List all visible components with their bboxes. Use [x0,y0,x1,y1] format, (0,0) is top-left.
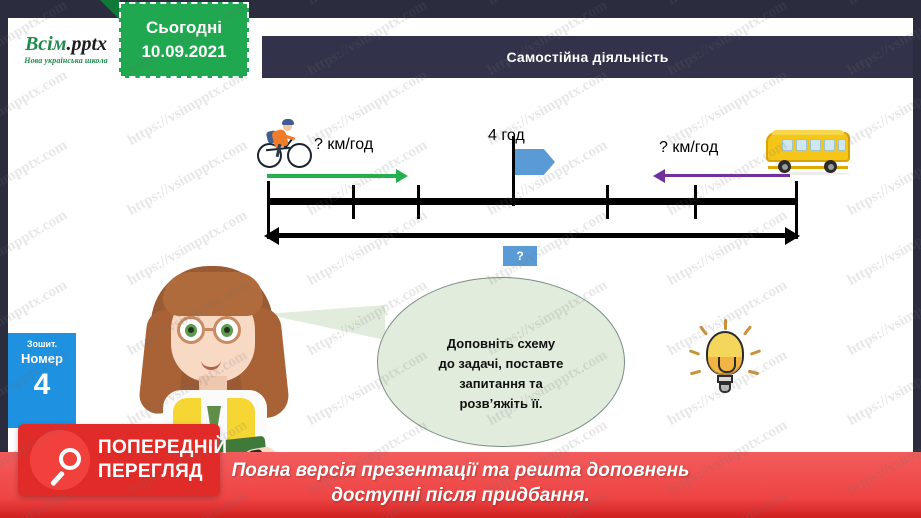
date-badge-value: 10.09.2021 [141,40,226,64]
speech-bubble-text: Доповніть схему до задачі, поставте запи… [383,334,619,414]
notebook-number-label: Номер [8,351,76,366]
watermark-text: https://vsimpptx.com [485,0,611,10]
logo-subtitle: Нова українська школа [10,56,122,65]
date-badge-label: Сьогодні [146,16,222,40]
speech-line-1: Доповніть схему [383,334,619,354]
preview-badge: ПОПЕРЕДНІЙ ПЕРЕГЛЯД [18,424,220,496]
lightbulb-icon [694,327,756,407]
notebook-label: Зошит. [8,339,76,349]
logo-wordmark: Всім.pptx [10,32,122,56]
notebook-number-box: Зошит. Номер 4 [8,333,76,428]
date-badge-corner-fold [100,0,120,20]
preview-badge-line-2: ПЕРЕГЛЯД [98,460,227,484]
preview-badge-text: ПОПЕРЕДНІЙ ПЕРЕГЛЯД [98,436,227,484]
speech-line-4: розв’яжіть її. [383,394,619,414]
brand-logo: Всім.pptx Нова українська школа [10,32,122,78]
logo-brand-prefix: Всім [25,33,66,55]
notebook-number-value: 4 [8,368,76,402]
watermark-text: https://vsimpptx.com [665,0,791,10]
magnifier-icon [30,430,90,490]
watermark-text: https://vsimpptx.com [845,0,921,10]
preview-badge-line-1: ПОПЕРЕДНІЙ [98,436,227,460]
date-badge: Сьогодні 10.09.2021 [119,2,249,78]
watermark-text: https://vsimpptx.com [0,0,71,10]
watermark-text: https://vsimpptx.com [305,0,431,10]
speech-line-3: запитання та [383,374,619,394]
logo-brand-suffix: .pptx [66,33,107,55]
speech-line-2: до задачі, поставте [383,354,619,374]
slide-title-bar: Самостійна діяльність [262,36,913,78]
page-title: Самостійна діяльність [262,49,913,65]
presentation-slide: Самостійна діяльність Всім.pptx Нова укр… [0,0,921,518]
